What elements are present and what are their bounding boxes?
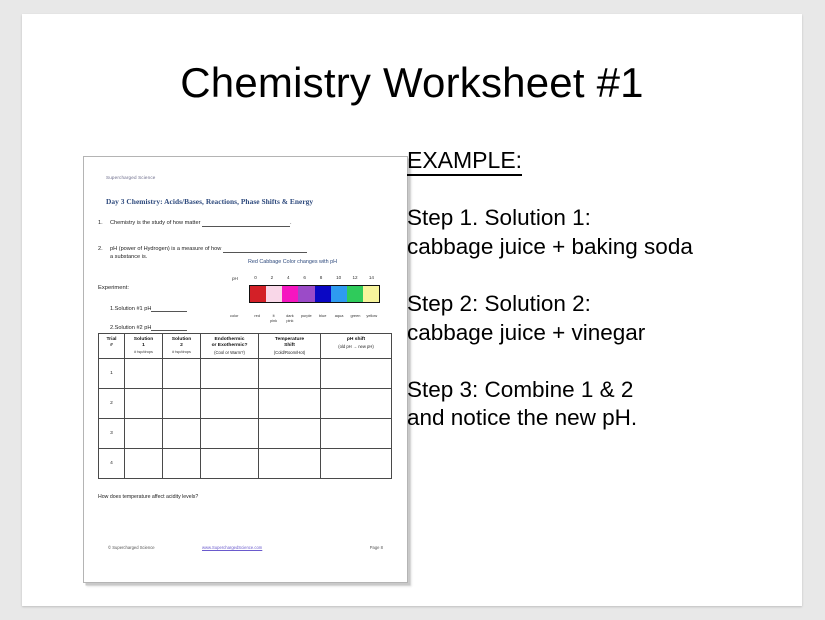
table-header-temp-shift: TemperatureShift(Cold/Room/Hot) [259, 334, 321, 359]
table-cell-empty[interactable] [163, 359, 201, 389]
ph-color-label-blue: blue [315, 314, 331, 319]
ph-tick-6: 6 [303, 275, 306, 280]
closing-question: How does temperature affect acidity leve… [98, 494, 198, 500]
table-cell-empty[interactable] [259, 449, 321, 479]
ph-axis-label: pH [232, 276, 238, 281]
step-3-line-1: Step 3: Combine 1 & 2 [407, 376, 787, 405]
question-1-number: 1. [98, 219, 110, 227]
table-header-subtitle: # tsp/drops [164, 349, 199, 355]
ph-swatch-red [250, 286, 266, 302]
table-cell-empty[interactable] [321, 359, 392, 389]
footer-url-link[interactable]: www.SuperchargedScience.com [202, 545, 262, 550]
table-row: 2 [99, 389, 392, 419]
ph-color-label-green: green [347, 314, 363, 319]
table-cell-empty[interactable] [163, 419, 201, 449]
table-header-subtitle: (Cold/Room/Hot) [260, 349, 319, 355]
experiment-item-2: 2.Solution #2 pH [110, 324, 187, 331]
ph-scale-ticks: pH 02468101214 [232, 275, 394, 284]
ph-color-label-aqua: aqua [331, 314, 347, 319]
ph-color-row-label: color [230, 314, 238, 319]
step-2-line-1: Step 2: Solution 2: [407, 290, 787, 319]
presentation-backdrop: Chemistry Worksheet #1 Supercharged Scie… [0, 0, 825, 620]
ph-tick-14: 14 [369, 275, 374, 280]
ph-scale-title: Red Cabbage Color changes with pH [248, 259, 337, 265]
table-cell-empty[interactable] [201, 359, 259, 389]
table-row: 4 [99, 449, 392, 479]
ph-tick-4: 4 [287, 275, 290, 280]
ph-swatch-purple [298, 286, 314, 302]
table-header-solution-2: Solution2# tsp/drops [163, 334, 201, 359]
table-cell-empty[interactable] [259, 389, 321, 419]
table-cell-empty[interactable] [259, 419, 321, 449]
question-1-blank [202, 220, 290, 227]
experiment-item-1-text: Solution #1 pH [115, 306, 152, 312]
ph-color-label-yellow: yellow [364, 314, 380, 319]
table-cell-empty[interactable] [163, 449, 201, 479]
table-header-subtitle: (Cool or Warm?) [202, 349, 257, 355]
experiment-label: Experiment: [98, 285, 129, 291]
step-2-line-2: cabbage juice + vinegar [407, 319, 787, 348]
table-row: 1 [99, 359, 392, 389]
table-cell-empty[interactable] [321, 419, 392, 449]
table-cell-empty[interactable] [201, 419, 259, 449]
ph-swatch-lt-pink [266, 286, 282, 302]
ph-color-labels: color redltpinkdarkpinkpurpleblueaquagre… [232, 314, 394, 325]
footer-page-number: Page 8 [370, 545, 383, 550]
table-cell-trial-number: 4 [99, 449, 125, 479]
table-cell-empty[interactable] [201, 449, 259, 479]
experiment-item-2-blank [151, 324, 187, 331]
table-cell-empty[interactable] [321, 449, 392, 479]
table-header-trial: Trial# [99, 334, 125, 359]
step-2: Step 2: Solution 2: cabbage juice + vine… [407, 290, 787, 348]
experiment-item-2-text: Solution #2 pH [115, 325, 152, 331]
ph-swatch-blue [315, 286, 331, 302]
table-header-solution-1: Solution1# tsp/drops [125, 334, 163, 359]
question-2-text: pH (power of Hydrogen) is a measure of h… [110, 246, 221, 252]
table-cell-trial-number: 2 [99, 389, 125, 419]
experiment-item-1: 1.Solution #1 pH [110, 305, 187, 312]
table-header-title: Solution2 [172, 337, 192, 348]
table-header-endo-exo: Endothermicor Exothermic?(Cool or Warm?) [201, 334, 259, 359]
worksheet-thumbnail[interactable]: Supercharged Science Day 3 Chemistry: Ac… [83, 156, 408, 583]
experiment-table: Trial# Solution1# tsp/drops Solution2# t… [98, 333, 392, 479]
ph-tick-0: 0 [254, 275, 257, 280]
table-cell-empty[interactable] [201, 389, 259, 419]
page-title: Chemistry Worksheet #1 [22, 60, 802, 106]
table-cell-empty[interactable] [125, 389, 163, 419]
step-3-line-2: and notice the new pH. [407, 404, 787, 433]
ph-color-label-dark-pink: darkpink [282, 314, 298, 323]
step-3: Step 3: Combine 1 & 2 and notice the new… [407, 376, 787, 434]
ph-swatch-dark-pink [282, 286, 298, 302]
table-cell-trial-number: 1 [99, 359, 125, 389]
ph-swatch-green [347, 286, 363, 302]
table-cell-empty[interactable] [163, 389, 201, 419]
step-1-line-1: Step 1. Solution 1: [407, 204, 787, 233]
table-header-title: Solution1 [134, 337, 154, 348]
table-header-row: Trial# Solution1# tsp/drops Solution2# t… [99, 334, 392, 359]
ph-tick-8: 8 [320, 275, 323, 280]
ph-scale: pH 02468101214 color redltpinkdarkpinkpu… [232, 275, 394, 325]
table-cell-empty[interactable] [125, 449, 163, 479]
table-header-title: Endothermicor Exothermic? [212, 337, 248, 348]
question-1-text: Chemistry is the study of how matter [110, 220, 200, 226]
table-header-title: Trial# [106, 337, 116, 348]
worksheet-brand: Supercharged Science [106, 175, 155, 180]
worksheet-page: Supercharged Science Day 3 Chemistry: Ac… [84, 157, 407, 582]
step-1: Step 1. Solution 1: cabbage juice + baki… [407, 204, 787, 262]
step-1-line-2: cabbage juice + baking soda [407, 233, 787, 262]
ph-swatch-aqua [331, 286, 347, 302]
question-2-number: 2. [98, 245, 110, 253]
table-header-title: pH shift [347, 337, 365, 342]
ph-color-label-purple: purple [298, 314, 314, 319]
question-2-blank [223, 246, 307, 253]
table-header-subtitle: (old pH → new pH) [322, 343, 390, 349]
table-body: 1234 [99, 359, 392, 479]
ph-swatch-yellow [363, 286, 379, 302]
worksheet-question-1: 1.Chemistry is the study of how matter . [98, 219, 292, 227]
ph-color-bar [249, 285, 380, 303]
table-row: 3 [99, 419, 392, 449]
ph-tick-2: 2 [271, 275, 274, 280]
worksheet-heading: Day 3 Chemistry: Acids/Bases, Reactions,… [106, 197, 313, 206]
question-1-tail: . [290, 220, 292, 226]
footer-copyright: © Supercharged Science [108, 545, 155, 550]
ph-tick-10: 10 [336, 275, 341, 280]
table-cell-empty[interactable] [125, 359, 163, 389]
experiment-item-1-blank [151, 305, 187, 312]
ph-color-label-lt-pink: ltpink [265, 314, 281, 323]
table-cell-trial-number: 3 [99, 419, 125, 449]
slide-canvas: Chemistry Worksheet #1 Supercharged Scie… [22, 14, 802, 606]
table-header-subtitle: # tsp/drops [126, 349, 161, 355]
ph-color-label-red: red [249, 314, 265, 319]
table-cell-empty[interactable] [125, 419, 163, 449]
example-column: EXAMPLE: Step 1. Solution 1: cabbage jui… [407, 147, 787, 433]
table-header-title: TemperatureShift [275, 337, 304, 348]
ph-tick-12: 12 [352, 275, 357, 280]
example-heading: EXAMPLE: [407, 147, 522, 176]
table-cell-empty[interactable] [321, 389, 392, 419]
table-cell-empty[interactable] [259, 359, 321, 389]
table-header-ph-shift: pH shift(old pH → new pH) [321, 334, 392, 359]
